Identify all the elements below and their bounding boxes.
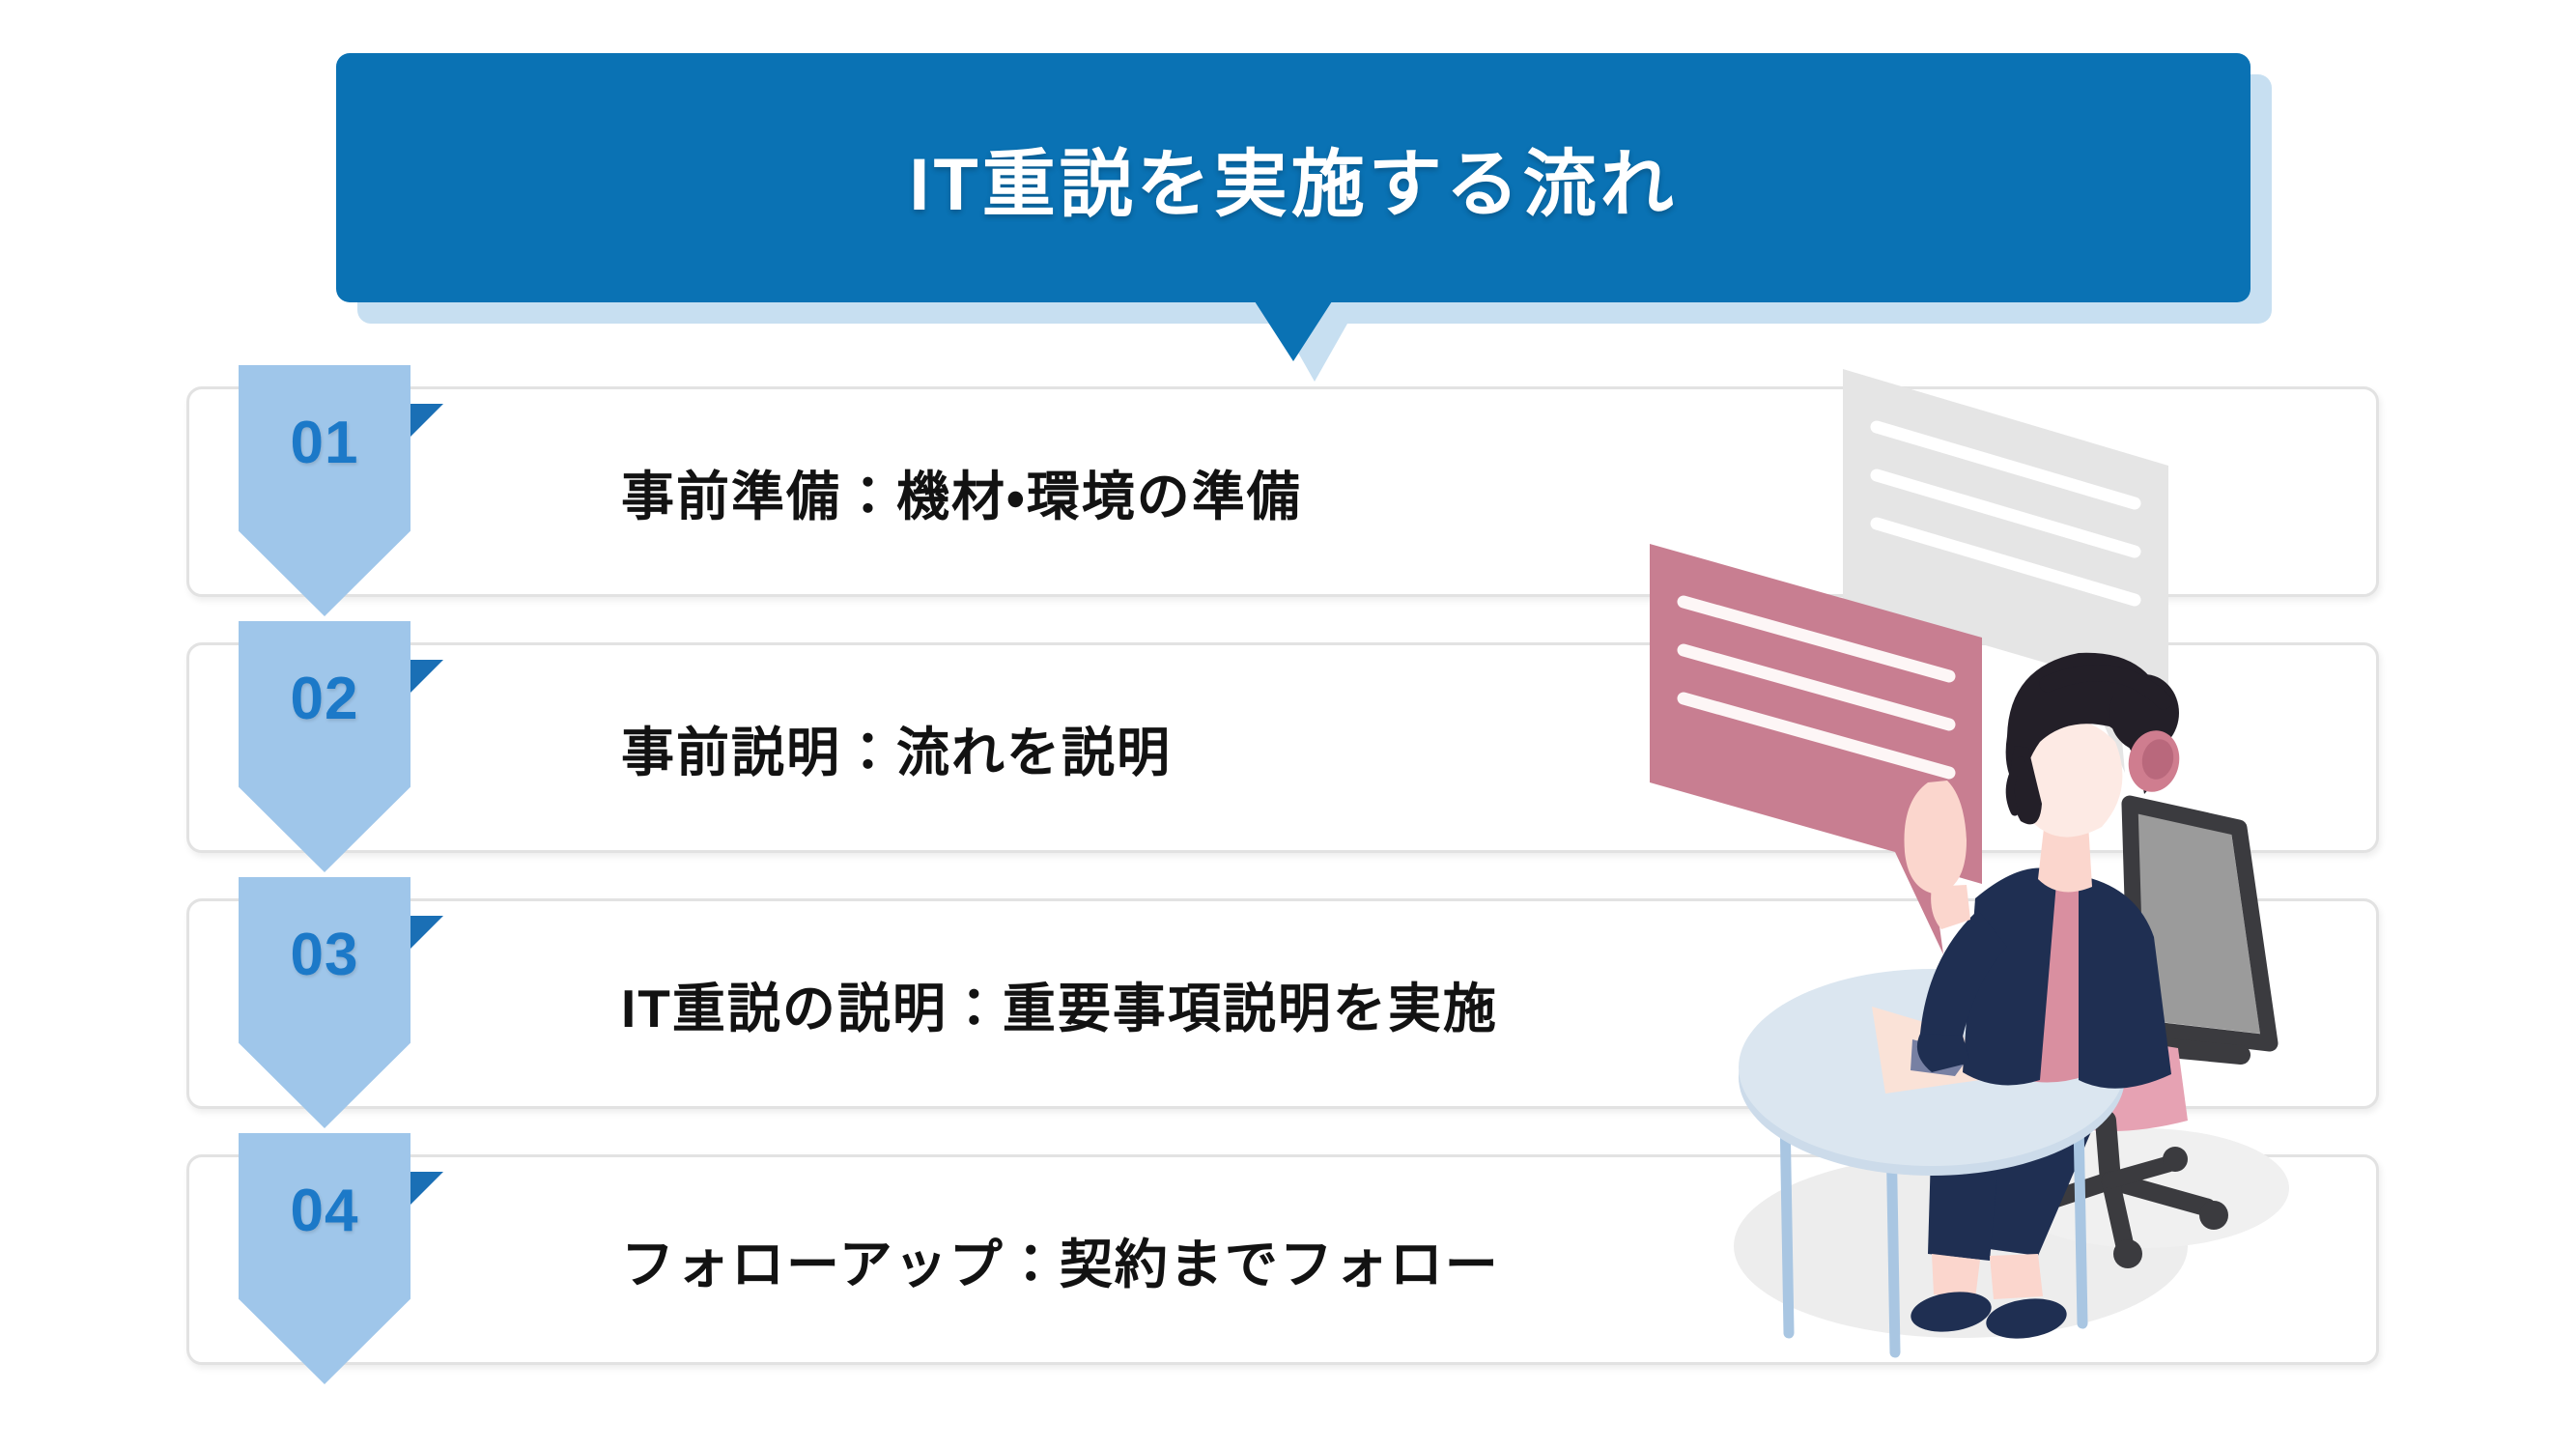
step-number: 04	[239, 1133, 410, 1288]
step-number-badge: 03	[239, 877, 410, 1128]
step-label: フォローアップ：契約までフォロー	[621, 1154, 1500, 1365]
step-number-badge: 04	[239, 1133, 410, 1384]
step-number-badge: 02	[239, 621, 410, 872]
step-row-04[interactable]: 04 フォローアップ：契約までフォロー	[186, 1154, 2379, 1365]
badge-fold-corner-icon	[410, 1172, 443, 1205]
step-row-02[interactable]: 02 事前説明：流れを説明	[186, 642, 2379, 853]
step-list: 01 事前準備：機材・環境の準備 02 事前説明：流れを説明 03 IT重説の説…	[0, 0, 2576, 1449]
step-label: IT重説の説明：重要事項説明を実施	[621, 898, 1498, 1109]
step-label: 事前準備：機材・環境の準備	[621, 386, 1302, 597]
badge-fold-corner-icon	[410, 916, 443, 949]
step-number: 01	[239, 365, 410, 520]
step-number: 02	[239, 621, 410, 776]
step-number-badge: 01	[239, 365, 410, 616]
step-card	[186, 642, 2379, 853]
step-row-03[interactable]: 03 IT重説の説明：重要事項説明を実施	[186, 898, 2379, 1109]
step-number: 03	[239, 877, 410, 1032]
step-label: 事前説明：流れを説明	[621, 642, 1172, 853]
badge-fold-corner-icon	[410, 660, 443, 693]
step-row-01[interactable]: 01 事前準備：機材・環境の準備	[186, 386, 2379, 597]
badge-fold-corner-icon	[410, 404, 443, 437]
slide-canvas: IT重説を実施する流れ 01 事前準備：機材・環境の準備 02 事前説明：流れを…	[0, 0, 2576, 1449]
